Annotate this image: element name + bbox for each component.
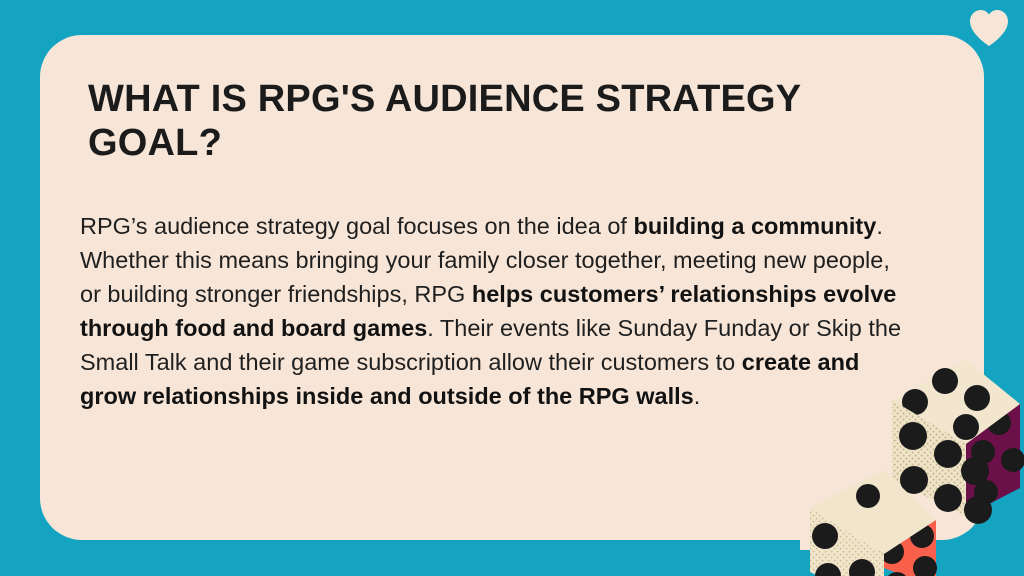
body-text: . (694, 383, 701, 409)
content-block: WHAT IS RPG'S AUDIENCE STRATEGY GOAL? RP… (88, 78, 908, 413)
body-paragraph: RPG’s audience strategy goal focuses on … (80, 209, 908, 413)
body-text: RPG’s audience strategy goal focuses on … (80, 213, 633, 239)
heart-icon (968, 8, 1010, 48)
body-emphasis: building a community (633, 213, 876, 239)
page-title: WHAT IS RPG'S AUDIENCE STRATEGY GOAL? (88, 78, 908, 165)
slide-canvas: WHAT IS RPG'S AUDIENCE STRATEGY GOAL? RP… (0, 0, 1024, 576)
